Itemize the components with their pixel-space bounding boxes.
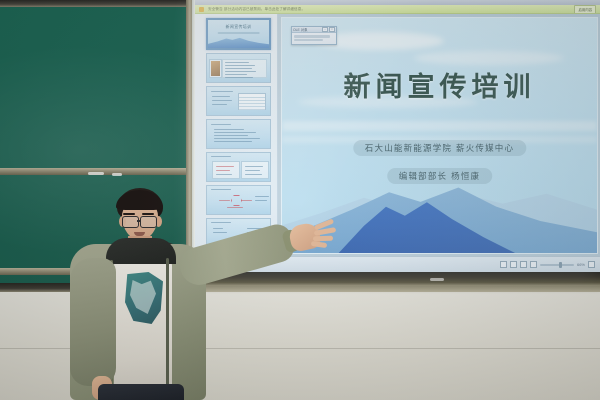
dialog-title: OLE 对象: [293, 27, 308, 32]
presenter-finger: [313, 236, 333, 242]
classroom-scene: 安全警告 部分活动内容已被禁用。单击此处了解详细信息。 启用内容 1 新闻宣传培…: [0, 0, 600, 400]
thumb-subtitle-bar: [217, 32, 260, 34]
thumb-table: [238, 93, 266, 110]
slideshow-icon[interactable]: [530, 261, 537, 268]
slide-thumbnail-5[interactable]: 5: [206, 152, 271, 182]
slide-subtitle-2: 编辑部部长 杨恒康: [387, 168, 493, 184]
chalk-piece: [112, 173, 122, 176]
slide-thumbnail-2[interactable]: 2: [206, 53, 271, 83]
security-warning-text: 安全警告 部分活动内容已被禁用。单击此处了解详细信息。: [208, 7, 570, 12]
thumb-text-panel: [222, 59, 267, 78]
zoom-slider[interactable]: [540, 264, 574, 266]
link-update-dialog[interactable]: OLE 对象 – ×: [291, 26, 337, 45]
thumb-title: 新闻宣传培训: [226, 24, 252, 30]
security-warning-bar[interactable]: 安全警告 部分活动内容已被禁用。单击此处了解详细信息。 启用内容: [195, 5, 600, 14]
presenter: [62, 186, 292, 400]
slide-thumbnail-1[interactable]: 1 新闻宣传培训: [206, 18, 271, 50]
current-slide: 新闻宣传培训 石大山能新能源学院 薪火传媒中心 编辑部部长 杨恒康 OLE 对象…: [281, 17, 598, 254]
thumb-portrait-frame: [209, 59, 222, 78]
dialog-body: [292, 33, 336, 44]
zoom-slider-handle[interactable]: [559, 262, 562, 268]
presenter-pants: [98, 384, 184, 400]
slide-number: 1: [206, 31, 207, 35]
slide-thumbnail-4[interactable]: 4: [206, 119, 271, 149]
minimize-icon[interactable]: –: [322, 27, 328, 32]
eyeglasses-bridge: [137, 220, 141, 222]
thumb-portrait-image: [211, 61, 220, 76]
slide-sorter-icon[interactable]: [510, 261, 517, 268]
thumb-column-right: [241, 161, 269, 179]
presenter-right-arm: [176, 221, 298, 290]
zoom-level[interactable]: 66%: [577, 262, 585, 267]
slide-title: 新闻宣传培训: [282, 65, 597, 104]
reading-view-icon[interactable]: [520, 261, 527, 268]
thumb-column-left: [212, 161, 240, 179]
eyeglasses-lens: [140, 216, 157, 228]
presenter-left-arm: [70, 258, 116, 386]
enable-content-button[interactable]: 启用内容: [574, 5, 596, 14]
close-icon[interactable]: ×: [329, 27, 335, 32]
chalk-piece: [88, 172, 104, 175]
eyeglasses-lens: [122, 216, 139, 228]
normal-view-icon[interactable]: [500, 261, 507, 268]
presenter-eyebrow: [142, 213, 154, 215]
slide-thumbnail-3[interactable]: 3: [206, 86, 271, 116]
chalk-piece: [430, 278, 444, 281]
fit-to-window-icon[interactable]: [588, 261, 595, 268]
warning-icon: [199, 7, 204, 12]
jacket-zip: [166, 258, 169, 398]
presenter-eyebrow: [123, 213, 135, 215]
slide-subtitle-1: 石大山能新能源学院 薪火传媒中心: [353, 140, 526, 156]
